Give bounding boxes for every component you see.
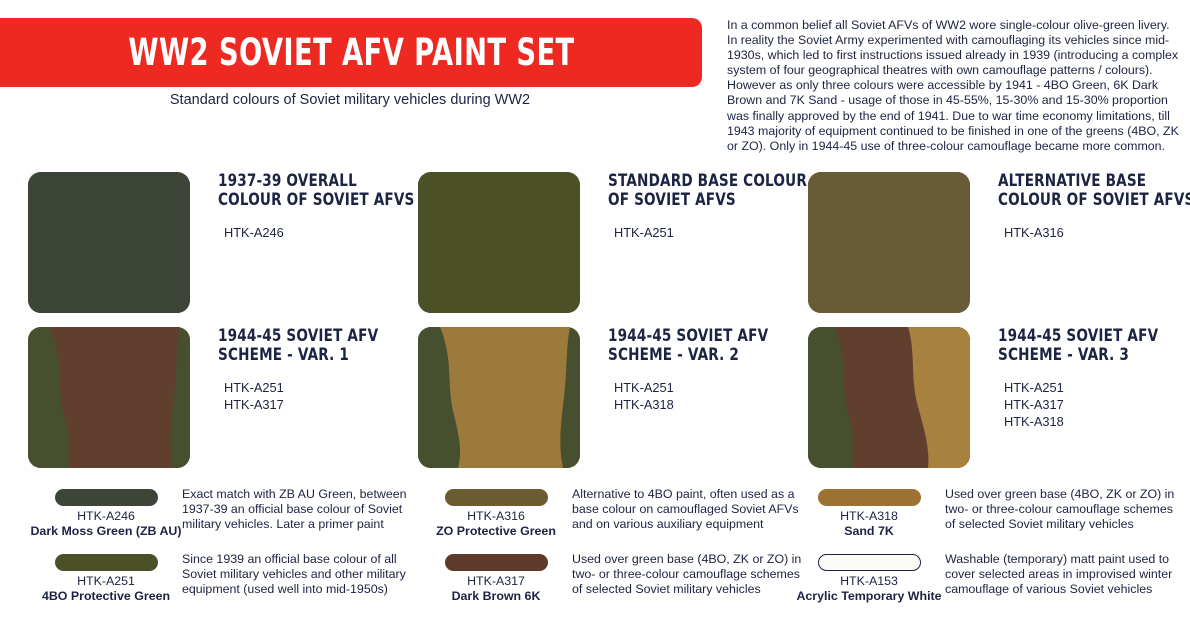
- paint-code: HTK-A318: [1004, 413, 1190, 430]
- legend-item-left: HTK-A318Sand 7K: [793, 484, 945, 539]
- swatch-cell: 1944-45 SOVIET AFV SCHEME - VAR. 3HTK-A2…: [808, 327, 1190, 473]
- swatch-cell: STANDARD BASE COLOUR OF SOVIET AFVsHTK-A…: [418, 172, 808, 318]
- legend-paint-code: HTK-A153: [793, 574, 945, 589]
- legend-description: Since 1939 an official base colour of al…: [182, 549, 420, 598]
- swatch-title: STANDARD BASE COLOUR OF SOVIET AFVs: [608, 172, 808, 210]
- page-title: WW2 SOVIET AFV PAINT SET: [128, 31, 574, 74]
- legend-description: Washable (temporary) matt paint used to …: [945, 549, 1183, 598]
- paint-code: HTK-A246: [224, 224, 418, 241]
- swatch-code-list: HTK-A251HTK-A318: [608, 379, 808, 413]
- swatch-cell: 1944-45 SOVIET AFV SCHEME - VAR. 2HTK-A2…: [418, 327, 808, 473]
- legend-item: HTK-A246Dark Moss Green (ZB AU)Exact mat…: [30, 484, 420, 539]
- swatch-code-list: HTK-A316: [998, 224, 1190, 241]
- swatch-cell: 1937-39 OVERALL COLOUR OF SOVIET AFVsHTK…: [28, 172, 418, 318]
- paint-set-poster: WW2 SOVIET AFV PAINT SET Standard colour…: [0, 0, 1190, 638]
- paint-code: HTK-A251: [614, 379, 808, 396]
- legend-description: Exact match with ZB AU Green, between 19…: [182, 484, 420, 533]
- color-swatch[interactable]: [28, 172, 190, 313]
- swatch-code-list: HTK-A251HTK-A317HTK-A318: [998, 379, 1190, 430]
- legend-item-left: HTK-A317Dark Brown 6K: [420, 549, 572, 604]
- legend-item: HTK-A153Acrylic Temporary WhiteWashable …: [793, 549, 1183, 604]
- legend-paint-name: ZO Protective Green: [420, 524, 572, 539]
- legend-item: HTK-A316ZO Protective GreenAlternative t…: [420, 484, 810, 539]
- paint-code: HTK-A316: [1004, 224, 1190, 241]
- color-swatch[interactable]: [418, 172, 580, 313]
- legend-paint-code: HTK-A246: [30, 509, 182, 524]
- legend-column-3: HTK-A318Sand 7KUsed over green base (4BO…: [793, 484, 1183, 614]
- legend-description: Alternative to 4BO paint, often used as …: [572, 484, 810, 533]
- swatch-code-list: HTK-A251HTK-A317: [218, 379, 418, 413]
- swatch-title: ALTERNATIVE BASE COLOUR OF SOVIET AFVs: [998, 172, 1190, 210]
- swatch-code-list: HTK-A251: [608, 224, 808, 241]
- legend-paint-code: HTK-A316: [420, 509, 572, 524]
- swatch-cell: 1944-45 SOVIET AFV SCHEME - VAR. 1HTK-A2…: [28, 327, 418, 473]
- header-band: WW2 SOVIET AFV PAINT SET: [0, 18, 702, 87]
- intro-paragraph: In a common belief all Soviet AFVs of WW…: [727, 18, 1179, 154]
- legend-paint-name: Dark Moss Green (ZB AU): [30, 524, 182, 539]
- legend-item: HTK-A2514BO Protective GreenSince 1939 a…: [30, 549, 420, 604]
- swatch-title: 1937-39 OVERALL COLOUR OF SOVIET AFVs: [218, 172, 418, 210]
- paint-code: HTK-A317: [1004, 396, 1190, 413]
- swatch-cell: ALTERNATIVE BASE COLOUR OF SOVIET AFVsHT…: [808, 172, 1190, 318]
- swatch-row-base: 1937-39 OVERALL COLOUR OF SOVIET AFVsHTK…: [0, 172, 1190, 327]
- color-swatch[interactable]: [808, 172, 970, 313]
- swatch-text: 1944-45 SOVIET AFV SCHEME - VAR. 2HTK-A2…: [608, 327, 808, 413]
- paint-code: HTK-A317: [224, 396, 418, 413]
- legend-item-left: HTK-A2514BO Protective Green: [30, 549, 182, 604]
- paint-code: HTK-A251: [1004, 379, 1190, 396]
- legend-item-left: HTK-A316ZO Protective Green: [420, 484, 572, 539]
- swatch-text: STANDARD BASE COLOUR OF SOVIET AFVsHTK-A…: [608, 172, 808, 241]
- legend-paint-code: HTK-A317: [420, 574, 572, 589]
- swatch-grid: 1937-39 OVERALL COLOUR OF SOVIET AFVsHTK…: [0, 172, 1190, 482]
- legend-item-left: HTK-A246Dark Moss Green (ZB AU): [30, 484, 182, 539]
- legend-column-1: HTK-A246Dark Moss Green (ZB AU)Exact mat…: [30, 484, 420, 614]
- color-swatch[interactable]: [808, 327, 970, 468]
- swatch-text: 1944-45 SOVIET AFV SCHEME - VAR. 1HTK-A2…: [218, 327, 418, 413]
- legend-description: Used over green base (4BO, ZK or ZO) in …: [945, 484, 1183, 533]
- legend-color-pill[interactable]: [818, 554, 921, 571]
- legend-description: Used over green base (4BO, ZK or ZO) in …: [572, 549, 810, 598]
- legend-paint-name: Sand 7K: [793, 524, 945, 539]
- legend-color-pill[interactable]: [55, 554, 158, 571]
- paint-code: HTK-A251: [224, 379, 418, 396]
- legend-column-2: HTK-A316ZO Protective GreenAlternative t…: [420, 484, 810, 614]
- legend-item: HTK-A318Sand 7KUsed over green base (4BO…: [793, 484, 1183, 539]
- legend-paint-name: 4BO Protective Green: [30, 589, 182, 604]
- legend-section: HTK-A246Dark Moss Green (ZB AU)Exact mat…: [0, 484, 1190, 638]
- legend-color-pill[interactable]: [818, 489, 921, 506]
- legend-paint-name: Dark Brown 6K: [420, 589, 572, 604]
- swatch-text: 1937-39 OVERALL COLOUR OF SOVIET AFVsHTK…: [218, 172, 418, 241]
- swatch-code-list: HTK-A246: [218, 224, 418, 241]
- legend-color-pill[interactable]: [55, 489, 158, 506]
- legend-item: HTK-A317Dark Brown 6KUsed over green bas…: [420, 549, 810, 604]
- legend-paint-name: Acrylic Temporary White: [793, 589, 945, 604]
- legend-color-pill[interactable]: [445, 489, 548, 506]
- swatch-title: 1944-45 SOVIET AFV SCHEME - VAR. 3: [998, 327, 1190, 365]
- color-swatch[interactable]: [28, 327, 190, 468]
- page-subtitle: Standard colours of Soviet military vehi…: [0, 92, 700, 108]
- legend-paint-code: HTK-A251: [30, 574, 182, 589]
- legend-paint-code: HTK-A318: [793, 509, 945, 524]
- swatch-text: ALTERNATIVE BASE COLOUR OF SOVIET AFVsHT…: [998, 172, 1190, 241]
- swatch-row-camo: 1944-45 SOVIET AFV SCHEME - VAR. 1HTK-A2…: [0, 327, 1190, 482]
- paint-code: HTK-A251: [614, 224, 808, 241]
- legend-item-left: HTK-A153Acrylic Temporary White: [793, 549, 945, 604]
- paint-code: HTK-A318: [614, 396, 808, 413]
- swatch-title: 1944-45 SOVIET AFV SCHEME - VAR. 2: [608, 327, 808, 365]
- color-swatch[interactable]: [418, 327, 580, 468]
- swatch-title: 1944-45 SOVIET AFV SCHEME - VAR. 1: [218, 327, 418, 365]
- legend-color-pill[interactable]: [445, 554, 548, 571]
- swatch-text: 1944-45 SOVIET AFV SCHEME - VAR. 3HTK-A2…: [998, 327, 1190, 430]
